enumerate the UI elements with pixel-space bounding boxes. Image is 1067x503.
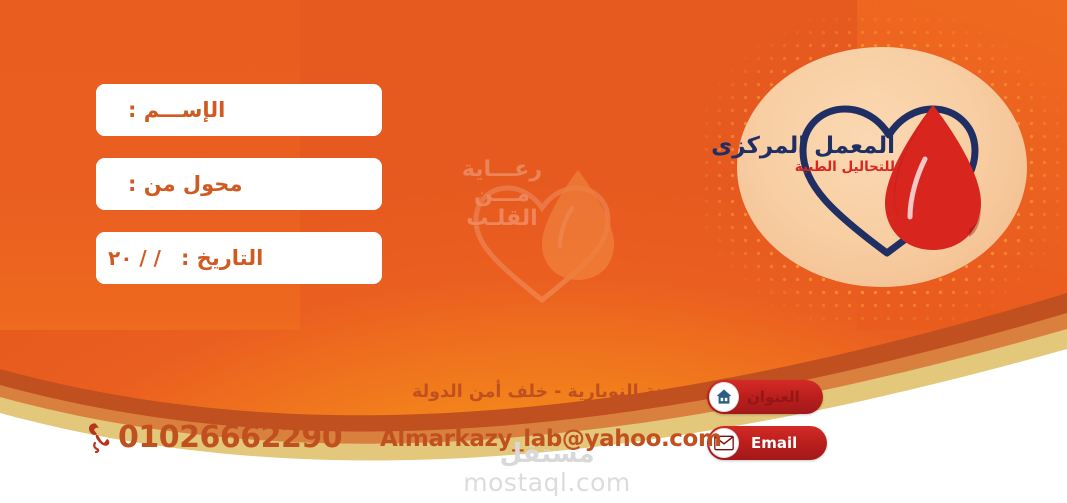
address-text: مدينة النوبارية - خلف أمن الدولة <box>418 382 690 402</box>
field-referred-from-inner[interactable]: محول من : <box>96 158 382 210</box>
watermark-slogan: رعـــاية مـــن القلـب <box>462 158 542 232</box>
address-badge-label: العنوان <box>747 388 800 406</box>
phone-handset-icon <box>86 421 112 455</box>
field-date-value: / / ٢٠ <box>108 246 161 270</box>
business-card: رعـــاية مـــن القلـب الإســـم : محول من… <box>0 0 1067 503</box>
field-date-inner[interactable]: التاريخ : / / ٢٠ <box>96 232 382 284</box>
site-watermark-latin: mostaql.com <box>432 468 662 497</box>
email-text: Almarkazy_lab@yahoo.com <box>380 426 690 452</box>
form-fields: الإســـم : محول من : التاريخ : / / ٢٠ <box>96 84 382 306</box>
field-name[interactable]: الإســـم : <box>96 84 382 136</box>
address-badge[interactable]: العنوان <box>707 380 823 414</box>
house-icon <box>709 382 739 412</box>
field-date-label: التاريخ : <box>181 246 263 270</box>
watermark-line-2: مـــن <box>462 183 542 208</box>
field-name-label: الإســـم : <box>128 98 225 122</box>
contact-block: العنوان Email مدينة النوبارية - خلف أمن … <box>0 368 1067 503</box>
field-referred-from[interactable]: محول من : <box>96 158 382 210</box>
field-date[interactable]: التاريخ : / / ٢٠ <box>96 232 382 284</box>
logo-title: المعمل المركزى <box>711 135 895 158</box>
email-badge-label: Email <box>751 434 797 452</box>
email-badge[interactable]: Email <box>707 426 827 460</box>
phone-row[interactable]: 01026662290 <box>86 420 342 455</box>
watermark-line-1: رعـــاية <box>462 158 542 183</box>
company-logo: المعمل المركزى للتحاليل الطبية <box>737 47 1027 287</box>
watermark-line-3: القلـب <box>462 207 542 232</box>
field-referred-from-label: محول من : <box>128 172 242 196</box>
logo-subtitle: للتحاليل الطبية <box>711 161 895 175</box>
field-name-inner[interactable]: الإســـم : <box>96 84 382 136</box>
phone-number: 01026662290 <box>118 420 342 455</box>
logo-text-block: المعمل المركزى للتحاليل الطبية <box>711 135 895 175</box>
